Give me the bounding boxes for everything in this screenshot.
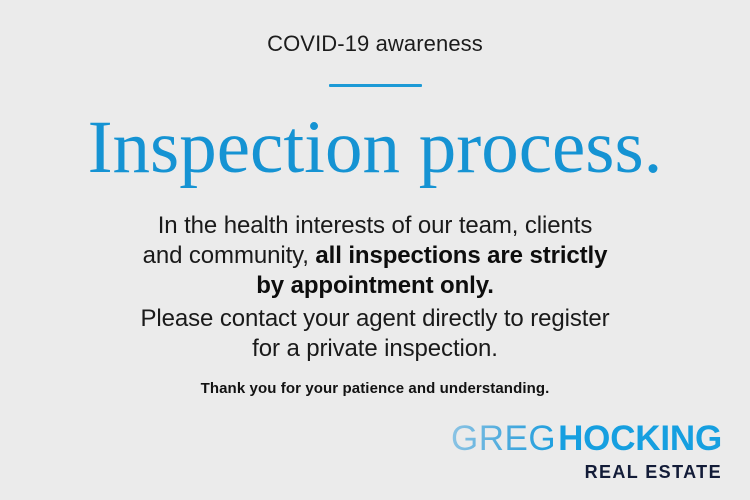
body-line-3-emphasis: by appointment only. bbox=[256, 272, 494, 299]
body-line-1: In the health interests of our team, cli… bbox=[158, 212, 593, 239]
covid-awareness-poster: COVID-19 awareness Inspection process. I… bbox=[0, 0, 750, 500]
kicker-text: COVID-19 awareness bbox=[0, 31, 750, 57]
logo-tagline: REAL ESTATE bbox=[451, 462, 722, 482]
logo-word-hocking: HOCKING bbox=[558, 419, 722, 458]
brand-logo: GREGHOCKING REAL ESTATE bbox=[451, 422, 722, 482]
logo-word-greg: GREG bbox=[451, 419, 558, 458]
body-line-2-normal: and community, bbox=[143, 242, 316, 269]
accent-divider bbox=[329, 84, 422, 87]
body-line-2-emphasis: all inspections are strictly bbox=[315, 242, 607, 269]
contact-line-1: Please contact your agent directly to re… bbox=[141, 305, 610, 332]
thank-you-note: Thank you for your patience and understa… bbox=[0, 379, 750, 399]
divider-container bbox=[0, 84, 750, 87]
page-title: Inspection process. bbox=[0, 106, 750, 190]
body-paragraph-secondary: Please contact your agent directly to re… bbox=[75, 304, 675, 364]
body-paragraph-primary: In the health interests of our team, cli… bbox=[75, 211, 675, 301]
logo-wordmark: GREGHOCKING bbox=[451, 422, 722, 456]
contact-line-2: for a private inspection. bbox=[252, 335, 498, 362]
